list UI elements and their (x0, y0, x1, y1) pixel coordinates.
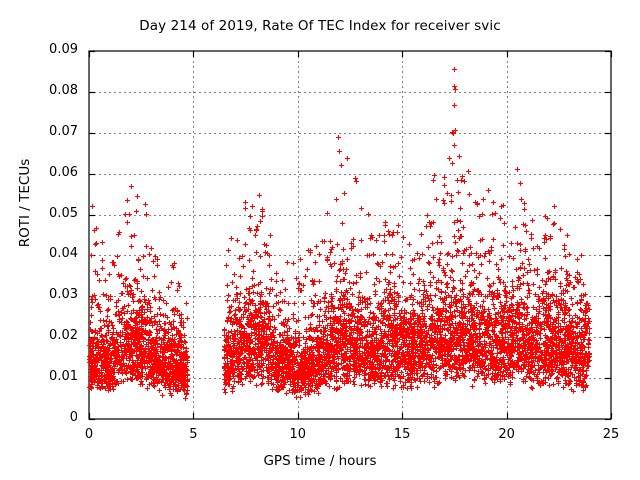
chart-container: Day 214 of 2019, Rate Of TEC Index for r… (0, 0, 640, 480)
plot-canvas (0, 0, 640, 480)
data-points (87, 67, 592, 401)
